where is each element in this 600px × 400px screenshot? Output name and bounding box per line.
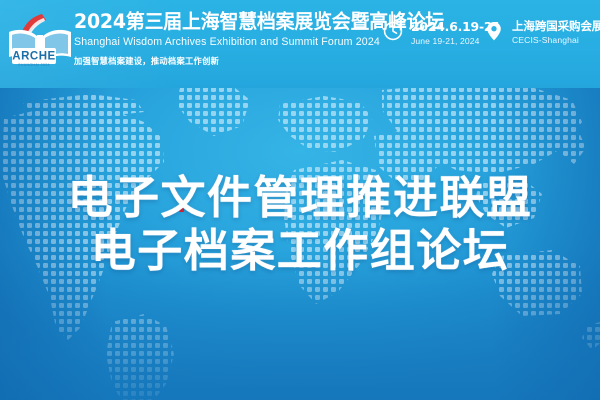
svg-text:ARCHE: ARCHE (12, 51, 55, 63)
header-tagline: 加强智慧档案建设，推动档案工作创新 (74, 55, 362, 67)
header-venue-block: 上海跨国采购会展中心 CECIS-Shanghai (483, 19, 600, 45)
header-text-block: 2024第三届上海智慧档案展览会暨高峰论坛 Shanghai Wisdom Ar… (74, 12, 374, 67)
banner-header: ARCHE SHANGHAI 2024 2024第三届上海智慧档案展览会暨高峰论… (0, 0, 600, 88)
venue-primary: 上海跨国采购会展中心 (512, 20, 600, 32)
svg-text:SHANGHAI 2024: SHANGHAI 2024 (18, 63, 50, 67)
open-book-icon: ARCHE SHANGHAI 2024 (4, 8, 76, 76)
arche-logo[interactable]: ARCHE SHANGHAI 2024 (4, 8, 76, 76)
main-title-block: 电子文件管理推进联盟 电子档案工作组论坛 (0, 172, 600, 277)
header-title-en: Shanghai Wisdom Archives Exhibition and … (74, 36, 374, 48)
location-pin-icon (483, 19, 505, 43)
clock-icon (382, 19, 404, 43)
main-title-line-1: 电子文件管理推进联盟 (0, 172, 600, 223)
main-title-line-2: 电子档案工作组论坛 (0, 225, 600, 276)
venue-lines: 上海跨国采购会展中心 CECIS-Shanghai (512, 19, 600, 45)
conference-banner: ARCHE SHANGHAI 2024 2024第三届上海智慧档案展览会暨高峰论… (0, 0, 600, 400)
header-title-cn: 2024第三届上海智慧档案展览会暨高峰论坛 (74, 12, 365, 32)
venue-secondary: CECIS-Shanghai (512, 35, 600, 45)
